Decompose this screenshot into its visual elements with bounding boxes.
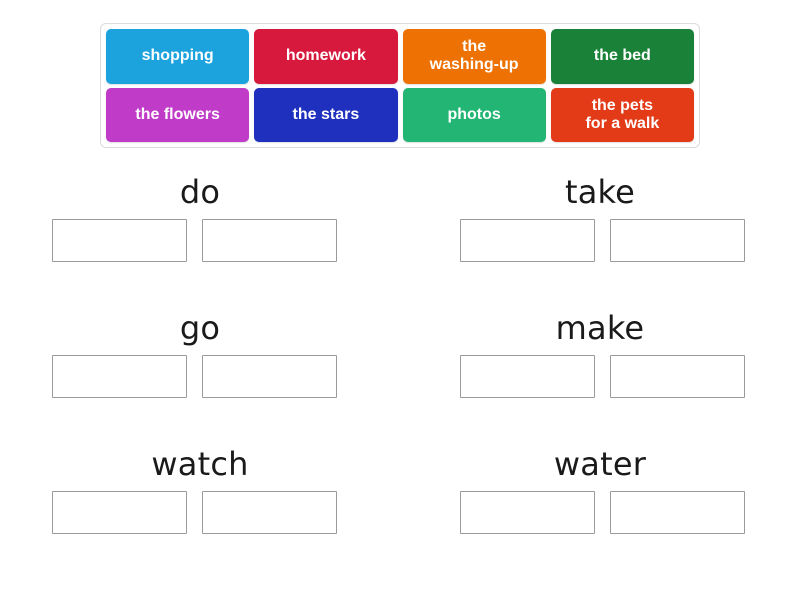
word-tile-tray: shopping homework the washing-up the bed… [100,23,700,148]
drop-slot-make-2[interactable] [610,355,745,398]
slot-pair-take [460,219,745,262]
category-watch: watch [0,437,400,573]
drop-slot-watch-2[interactable] [202,491,337,534]
category-make: make [400,301,800,437]
drop-slot-take-2[interactable] [610,219,745,262]
category-label-do: do [180,165,220,219]
category-take: take [400,165,800,301]
word-tile-shopping[interactable]: shopping [106,29,249,84]
drop-slot-water-2[interactable] [610,491,745,534]
tile-row-2: the flowers the stars photos the pets fo… [106,88,694,143]
word-tile-homework[interactable]: homework [254,29,397,84]
drop-slot-water-1[interactable] [460,491,595,534]
category-row-1: do take [0,165,800,301]
category-grid: do take go make [0,165,800,573]
drop-slot-do-1[interactable] [52,219,187,262]
word-tile-photos[interactable]: photos [403,88,546,143]
category-label-watch: watch [151,437,248,491]
tile-row-1: shopping homework the washing-up the bed [106,29,694,84]
category-label-water: water [554,437,646,491]
word-tile-the-flowers[interactable]: the flowers [106,88,249,143]
drop-slot-go-2[interactable] [202,355,337,398]
drop-slot-do-2[interactable] [202,219,337,262]
word-tile-the-bed[interactable]: the bed [551,29,694,84]
drop-slot-watch-1[interactable] [52,491,187,534]
slot-pair-water [460,491,745,534]
category-label-go: go [180,301,220,355]
word-tile-the-pets-for-a-walk[interactable]: the pets for a walk [551,88,694,143]
slot-pair-do [52,219,337,262]
category-do: do [0,165,400,301]
drop-slot-take-1[interactable] [460,219,595,262]
drop-slot-make-1[interactable] [460,355,595,398]
word-tile-the-washing-up[interactable]: the washing-up [403,29,546,84]
slot-pair-watch [52,491,337,534]
category-water: water [400,437,800,573]
drop-slot-go-1[interactable] [52,355,187,398]
category-row-2: go make [0,301,800,437]
category-label-take: take [565,165,635,219]
slot-pair-go [52,355,337,398]
category-go: go [0,301,400,437]
slot-pair-make [460,355,745,398]
word-tile-the-stars[interactable]: the stars [254,88,397,143]
category-row-3: watch water [0,437,800,573]
category-label-make: make [556,301,645,355]
